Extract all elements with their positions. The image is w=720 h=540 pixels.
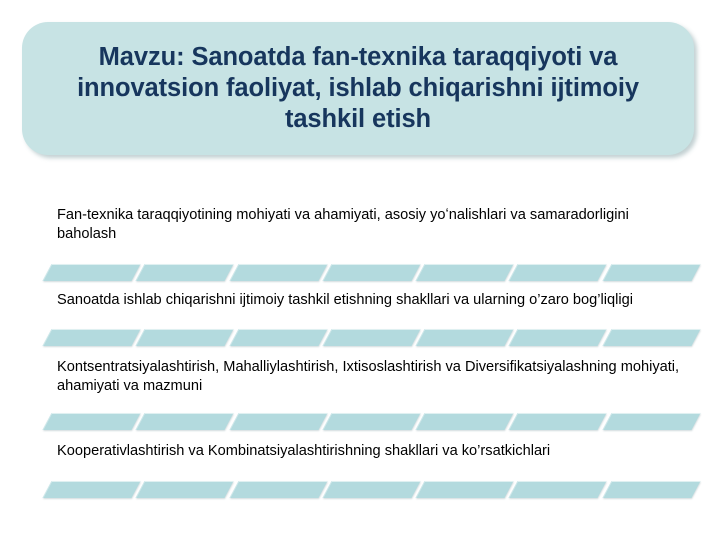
parallelogram-shape	[229, 413, 327, 430]
parallelogram-shape	[136, 481, 234, 498]
parallelogram-shape	[229, 329, 327, 346]
parallelogram-shape	[509, 264, 607, 281]
parallelogram-shape	[322, 413, 420, 430]
parallelogram-shape	[602, 413, 700, 430]
parallelogram-shape	[509, 413, 607, 430]
parallelogram-shape	[416, 329, 514, 346]
slide-title-banner: Mavzu: Sanoatda fan-texnika taraqqiyoti …	[22, 22, 694, 155]
slide-title: Mavzu: Sanoatda fan-texnika taraqqiyoti …	[38, 42, 678, 135]
parallelogram-shape	[322, 264, 420, 281]
parallelogram-shape	[322, 481, 420, 498]
parallelogram-shape	[229, 481, 327, 498]
parallelogram-shape	[509, 481, 607, 498]
parallelogram-shape	[416, 481, 514, 498]
parallelogram-shape	[136, 329, 234, 346]
slide-content: Fan-texnika taraqqiyotining mohiyati va …	[0, 196, 720, 502]
parallelogram-shape	[229, 264, 327, 281]
parallelogram-shape	[136, 413, 234, 430]
parallelogram-shape	[42, 413, 140, 430]
parallelogram-divider-row-4	[47, 476, 696, 502]
parallelogram-shape	[322, 329, 420, 346]
parallelogram-shape	[42, 264, 140, 281]
parallelogram-divider-row	[47, 196, 696, 206]
parallelogram-shape	[602, 481, 700, 498]
section-4-text: Kooperativlashtirish va Kombinatsiyalash…	[0, 442, 720, 461]
parallelogram-divider-row-3	[47, 408, 696, 434]
parallelogram-shape	[42, 329, 140, 346]
parallelogram-shape	[42, 481, 140, 498]
parallelogram-shape	[509, 329, 607, 346]
content-section-4: Kooperativlashtirish va Kombinatsiyalash…	[0, 442, 720, 461]
content-section-2: Sanoatda ishlab chiqarishni ijtimoiy tas…	[0, 291, 720, 310]
parallelogram-shape	[416, 413, 514, 430]
parallelogram-shape	[602, 264, 700, 281]
parallelogram-shape	[602, 329, 700, 346]
parallelogram-shape	[416, 264, 514, 281]
presentation-slide: Mavzu: Sanoatda fan-texnika taraqqiyoti …	[0, 0, 720, 540]
section-3-text: Kontsentratsiyalashtirish, Mahalliylasht…	[0, 358, 720, 397]
section-1-text: Fan-texnika taraqqiyotining mohiyati va …	[0, 206, 720, 245]
parallelogram-divider-row-1	[47, 259, 696, 285]
content-section-1: Fan-texnika taraqqiyotining mohiyati va …	[0, 206, 720, 245]
parallelogram-divider-row-2	[47, 324, 696, 350]
section-2-text: Sanoatda ishlab chiqarishni ijtimoiy tas…	[0, 291, 720, 310]
content-section-3: Kontsentratsiyalashtirish, Mahalliylasht…	[0, 358, 720, 397]
parallelogram-shape	[136, 264, 234, 281]
